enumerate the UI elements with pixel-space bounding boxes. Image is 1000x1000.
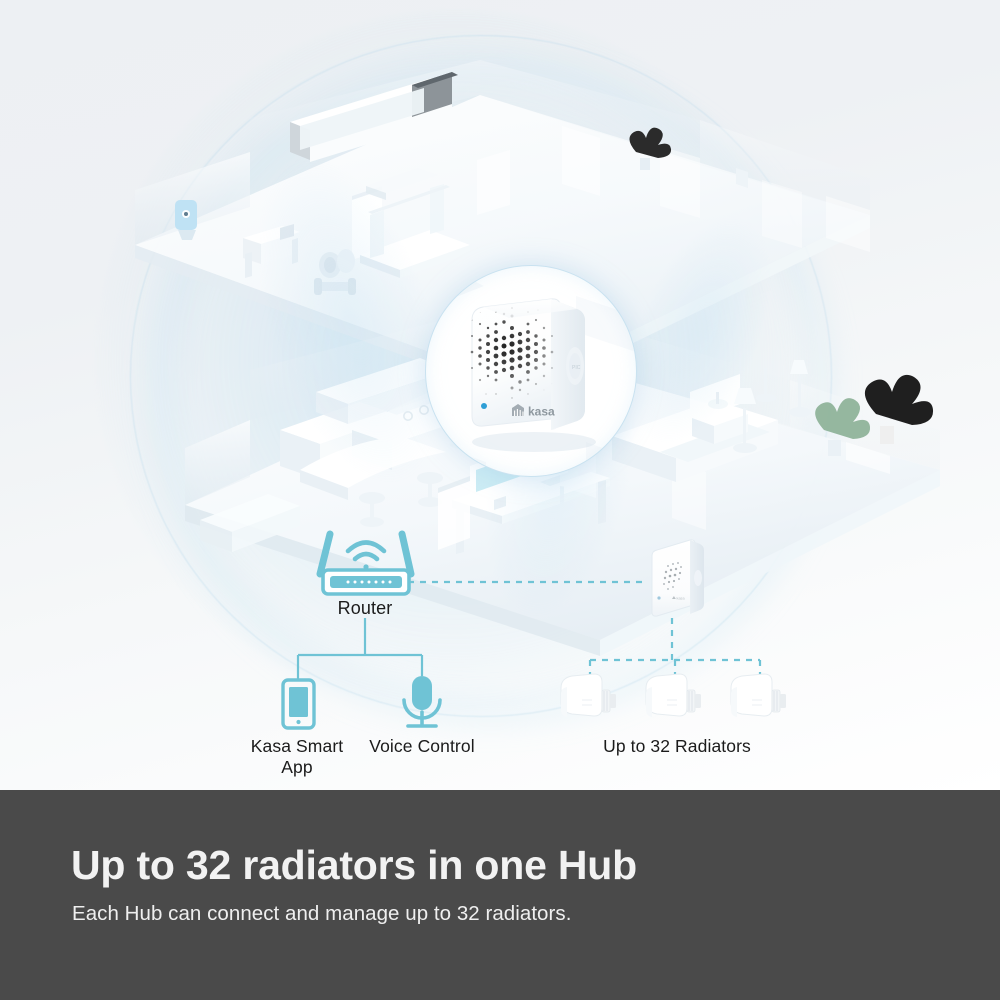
svg-text:kasa: kasa (677, 596, 686, 600)
smartphone-icon (283, 680, 314, 728)
svg-text:PIC: PIC (572, 365, 581, 371)
microphone-icon (404, 676, 440, 726)
radiator-valve-icon (561, 674, 616, 717)
banner-headline: Up to 32 radiators in one Hub (71, 842, 637, 889)
radiators-label: Up to 32 Radiators (573, 736, 781, 757)
product-inset-circle: PIC (425, 265, 637, 477)
voice-control-label: Voice Control (355, 736, 489, 757)
secondary-hub-device: kasa (652, 540, 704, 616)
hero-illustration: kasa (0, 0, 1000, 790)
router-label: Router (300, 598, 430, 619)
radiator-valve-icon (646, 674, 701, 717)
marketing-image: kasa (0, 0, 1000, 1000)
bottom-banner: Up to 32 radiators in one Hub Each Hub c… (0, 790, 1000, 1000)
radiator-valve-icon (731, 674, 786, 717)
radiator-valve-group (561, 674, 786, 717)
kasa-app-label: Kasa Smart App (232, 736, 362, 778)
hub-product-photo: PIC (426, 266, 636, 476)
svg-text:kasa: kasa (528, 405, 555, 419)
banner-subhead: Each Hub can connect and manage up to 32… (72, 902, 571, 926)
